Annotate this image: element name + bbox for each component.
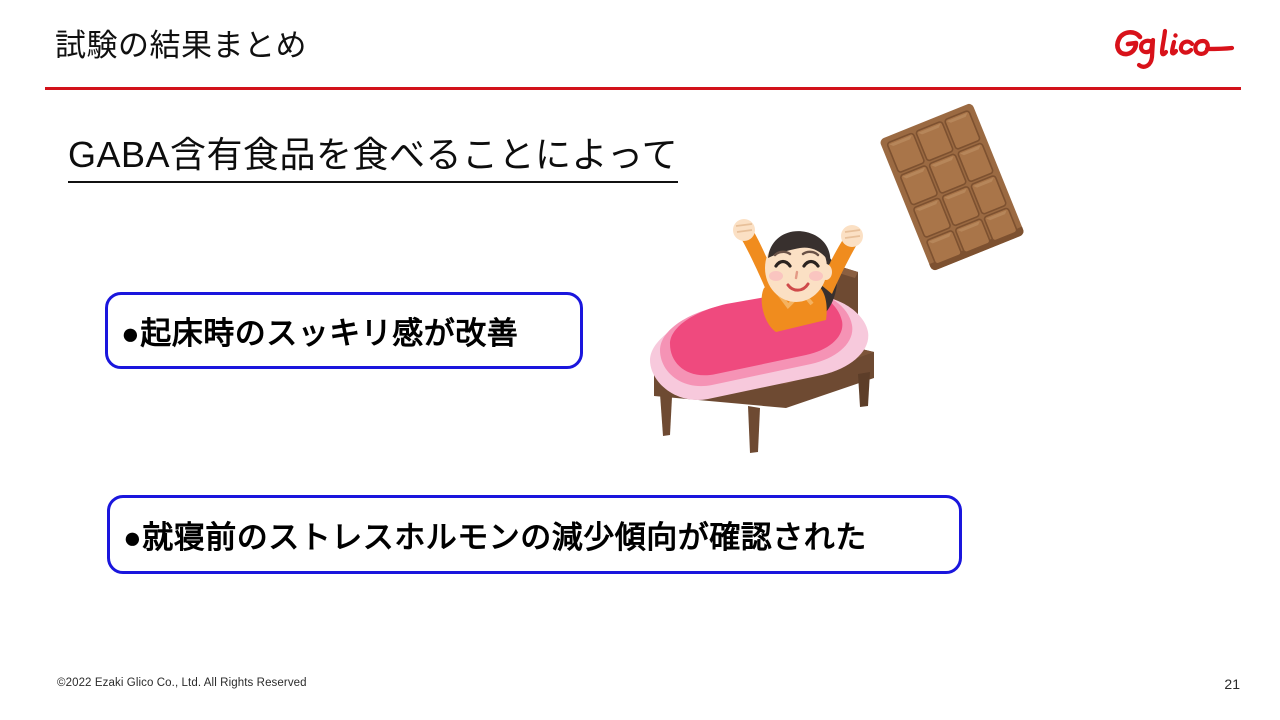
page-number: 21 — [1224, 676, 1240, 692]
callout-box-sleep-quality: ●起床時のスッキリ感が改善 — [105, 292, 583, 369]
header-divider — [45, 87, 1241, 90]
callout-text: ●起床時のスッキリ感が改善 — [121, 308, 518, 353]
callout-text: ●就寝前のストレスホルモンの減少傾向が確認された — [123, 512, 867, 557]
chocolate-bar-illustration — [862, 100, 1042, 275]
footer-copyright: ©2022 Ezaki Glico Co., Ltd. All Rights R… — [57, 677, 307, 689]
main-heading: GABA含有食品を食べることによって — [68, 132, 678, 183]
glico-logo — [1108, 24, 1240, 72]
callout-box-stress-hormone: ●就寝前のストレスホルモンの減少傾向が確認された — [107, 495, 962, 574]
slide-canvas: 試験の結果まとめ GABA含有食品を食べることに — [0, 0, 1280, 720]
page-title: 試験の結果まとめ — [55, 27, 307, 64]
